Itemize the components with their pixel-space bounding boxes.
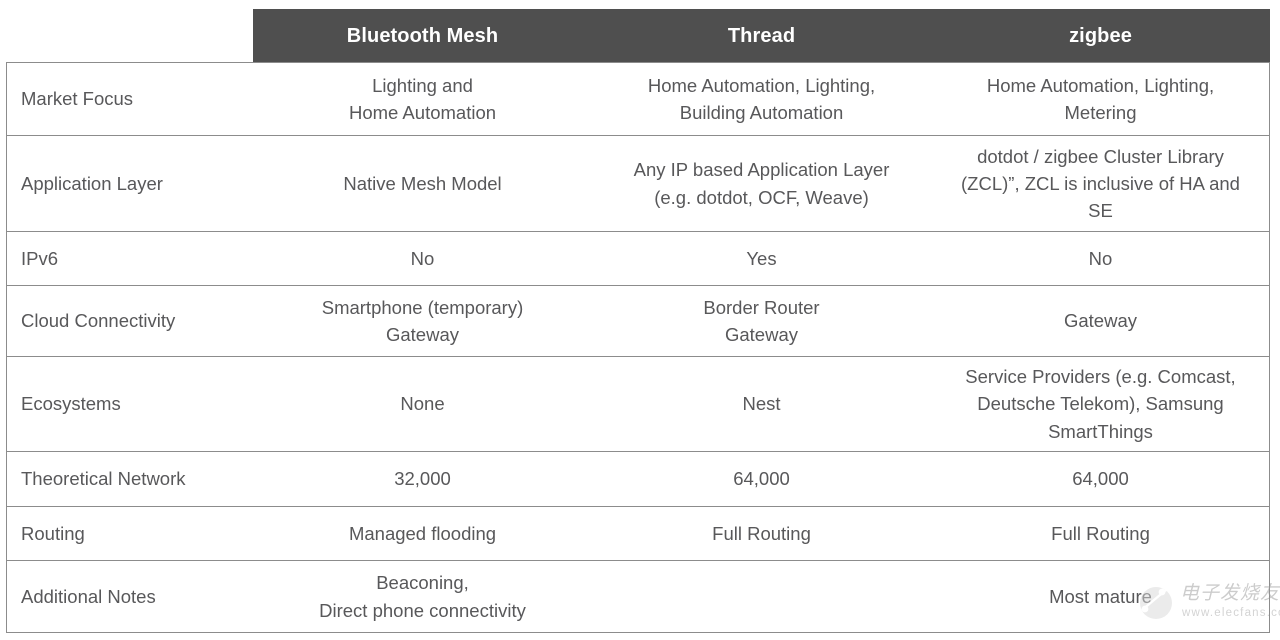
- column-header-bluetooth-mesh: Bluetooth Mesh: [253, 26, 592, 46]
- table-row: Theoretical Network 32,000 64,000 64,000: [7, 452, 1269, 507]
- row-label-theoretical-network: Theoretical Network: [7, 465, 253, 492]
- cell-additional-notes-bluetooth-mesh: Beaconing,Direct phone connectivity: [253, 569, 592, 623]
- table-row: Application Layer Native Mesh Model Any …: [7, 136, 1269, 232]
- cell-ipv6-zigbee: No: [931, 245, 1270, 272]
- table-row: Market Focus Lighting andHome Automation…: [7, 63, 1269, 136]
- cell-theoretical-network-zigbee: 64,000: [931, 465, 1270, 492]
- cell-market-focus-zigbee: Home Automation, Lighting,Metering: [931, 72, 1270, 126]
- cell-market-focus-bluetooth-mesh: Lighting andHome Automation: [253, 72, 592, 126]
- cell-ecosystems-bluetooth-mesh: None: [253, 390, 592, 417]
- cell-ecosystems-zigbee: Service Providers (e.g. Comcast,Deutsche…: [931, 363, 1270, 445]
- cell-routing-bluetooth-mesh: Managed flooding: [253, 520, 592, 547]
- cell-cloud-connectivity-thread: Border RouterGateway: [592, 294, 931, 348]
- table-row: Ecosystems None Nest Service Providers (…: [7, 357, 1269, 452]
- cell-application-layer-zigbee: dotdot / zigbee Cluster Library(ZCL)”, Z…: [931, 143, 1270, 225]
- cell-ecosystems-thread: Nest: [592, 390, 931, 417]
- cell-market-focus-thread: Home Automation, Lighting,Building Autom…: [592, 72, 931, 126]
- table-row: Cloud Connectivity Smartphone (temporary…: [7, 286, 1269, 357]
- table-row: IPv6 No Yes No: [7, 232, 1269, 286]
- table-row: Additional Notes Beaconing,Direct phone …: [7, 561, 1269, 633]
- row-label-application-layer: Application Layer: [7, 170, 253, 197]
- cell-cloud-connectivity-zigbee: Gateway: [931, 307, 1270, 334]
- cell-cloud-connectivity-bluetooth-mesh: Smartphone (temporary)Gateway: [253, 294, 592, 348]
- cell-additional-notes-zigbee: Most mature: [931, 583, 1270, 610]
- row-label-ipv6: IPv6: [7, 245, 253, 272]
- cell-theoretical-network-bluetooth-mesh: 32,000: [253, 465, 592, 492]
- cell-theoretical-network-thread: 64,000: [592, 465, 931, 492]
- cell-application-layer-bluetooth-mesh: Native Mesh Model: [253, 170, 592, 197]
- row-label-cloud-connectivity: Cloud Connectivity: [7, 307, 253, 334]
- comparison-table: Market Focus Lighting andHome Automation…: [6, 62, 1270, 633]
- column-header-thread: Thread: [592, 26, 931, 46]
- cell-ipv6-bluetooth-mesh: No: [253, 245, 592, 272]
- row-label-routing: Routing: [7, 520, 253, 547]
- column-header-zigbee: zigbee: [931, 26, 1270, 46]
- cell-application-layer-thread: Any IP based Application Layer(e.g. dotd…: [592, 156, 931, 210]
- table-header-row: Bluetooth Mesh Thread zigbee: [253, 9, 1270, 62]
- row-label-market-focus: Market Focus: [7, 85, 253, 112]
- row-label-ecosystems: Ecosystems: [7, 390, 253, 417]
- row-label-additional-notes: Additional Notes: [7, 583, 253, 610]
- cell-routing-thread: Full Routing: [592, 520, 931, 547]
- cell-routing-zigbee: Full Routing: [931, 520, 1270, 547]
- cell-ipv6-thread: Yes: [592, 245, 931, 272]
- comparison-table-page: Bluetooth Mesh Thread zigbee Market Focu…: [0, 0, 1280, 640]
- table-row: Routing Managed flooding Full Routing Fu…: [7, 507, 1269, 561]
